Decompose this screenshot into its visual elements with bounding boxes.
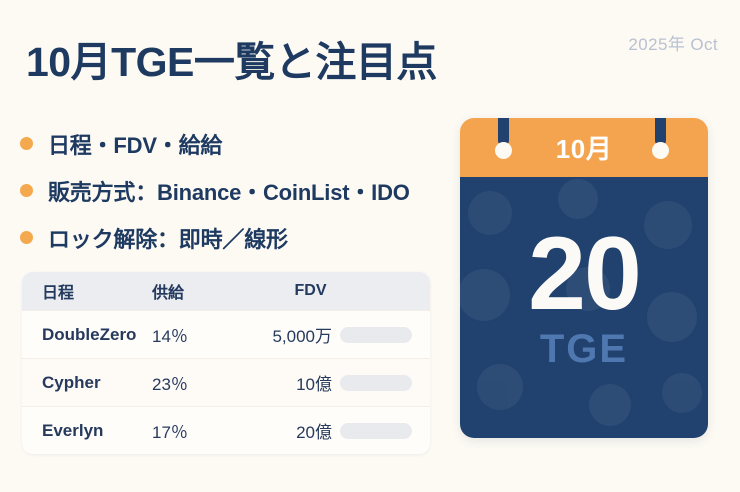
poster-canvas: 10月TGE一覧と注目点 2025年 Oct 日程・FDV・給給 販売方式：Bi… bbox=[0, 0, 740, 492]
cell-fdv: 5,000万 bbox=[247, 322, 430, 347]
column-header-supply: 供給 bbox=[152, 279, 247, 303]
bullet-dot-icon bbox=[20, 184, 33, 197]
cell-project-name: DoubleZero bbox=[22, 325, 152, 345]
calendar-ring-hole-right-icon bbox=[652, 142, 669, 159]
cell-supply: 17％ bbox=[152, 418, 247, 443]
svg-text:¥: ¥ bbox=[663, 376, 681, 412]
column-header-schedule: 日程 bbox=[22, 279, 152, 303]
svg-text:$: $ bbox=[477, 276, 495, 312]
cell-project-name: Everlyn bbox=[22, 421, 152, 441]
bullet-label: 日程・FDV・給給 bbox=[48, 128, 222, 160]
svg-text:E: E bbox=[662, 301, 682, 334]
table-row: Cypher 23％ 10億 bbox=[22, 358, 430, 406]
calendar-ring-hole-left-icon bbox=[495, 142, 512, 159]
cell-supply: 14％ bbox=[152, 322, 247, 347]
fdv-value: 10億 bbox=[296, 370, 332, 395]
table-header-row: 日程 供給 FDV bbox=[22, 272, 430, 310]
calendar-month-label: 10月 bbox=[556, 129, 612, 166]
fdv-value: 20億 bbox=[296, 418, 332, 443]
bullet-dot-icon bbox=[20, 137, 33, 150]
list-item: 販売方式：Binance・CoinList・IDO bbox=[16, 167, 466, 214]
svg-text:B: B bbox=[649, 209, 671, 242]
fdv-bar-track bbox=[340, 375, 412, 391]
table-row: DoubleZero 14％ 5,000万 bbox=[22, 310, 430, 358]
calendar-body: B E ¥ $ 20 TGE bbox=[460, 177, 708, 438]
table-row: Everlyn 17％ 20億 bbox=[22, 406, 430, 454]
column-header-fdv: FDV bbox=[247, 282, 430, 300]
calendar-header: 10月 bbox=[460, 118, 708, 177]
cell-fdv: 10億 bbox=[247, 370, 430, 395]
page-title: 10月TGE一覧と注目点 bbox=[26, 28, 437, 88]
fdv-value: 5,000万 bbox=[272, 322, 332, 347]
cell-project-name: Cypher bbox=[22, 373, 152, 393]
bullet-list: 日程・FDV・給給 販売方式：Binance・CoinList・IDO ロック解… bbox=[16, 120, 466, 261]
bullet-label: 販売方式：Binance・CoinList・IDO bbox=[48, 175, 410, 207]
fdv-bar-track bbox=[340, 327, 412, 343]
fdv-bar-track bbox=[340, 423, 412, 439]
cell-fdv: 20億 bbox=[247, 418, 430, 443]
list-item: ロック解除：即時／線形 bbox=[16, 214, 466, 261]
list-item: 日程・FDV・給給 bbox=[16, 120, 466, 167]
bullet-dot-icon bbox=[20, 231, 33, 244]
cell-supply: 23％ bbox=[152, 370, 247, 395]
calendar-day-number: 20 bbox=[528, 227, 640, 323]
calendar-tge-label: TGE bbox=[540, 327, 628, 372]
tge-table: 日程 供給 FDV DoubleZero 14％ 5,000万 Cypher 2… bbox=[22, 272, 430, 454]
period-label: 2025年 Oct bbox=[628, 30, 718, 55]
bullet-label: ロック解除：即時／線形 bbox=[48, 222, 288, 254]
calendar-graphic: 10月 B E ¥ bbox=[460, 118, 708, 438]
